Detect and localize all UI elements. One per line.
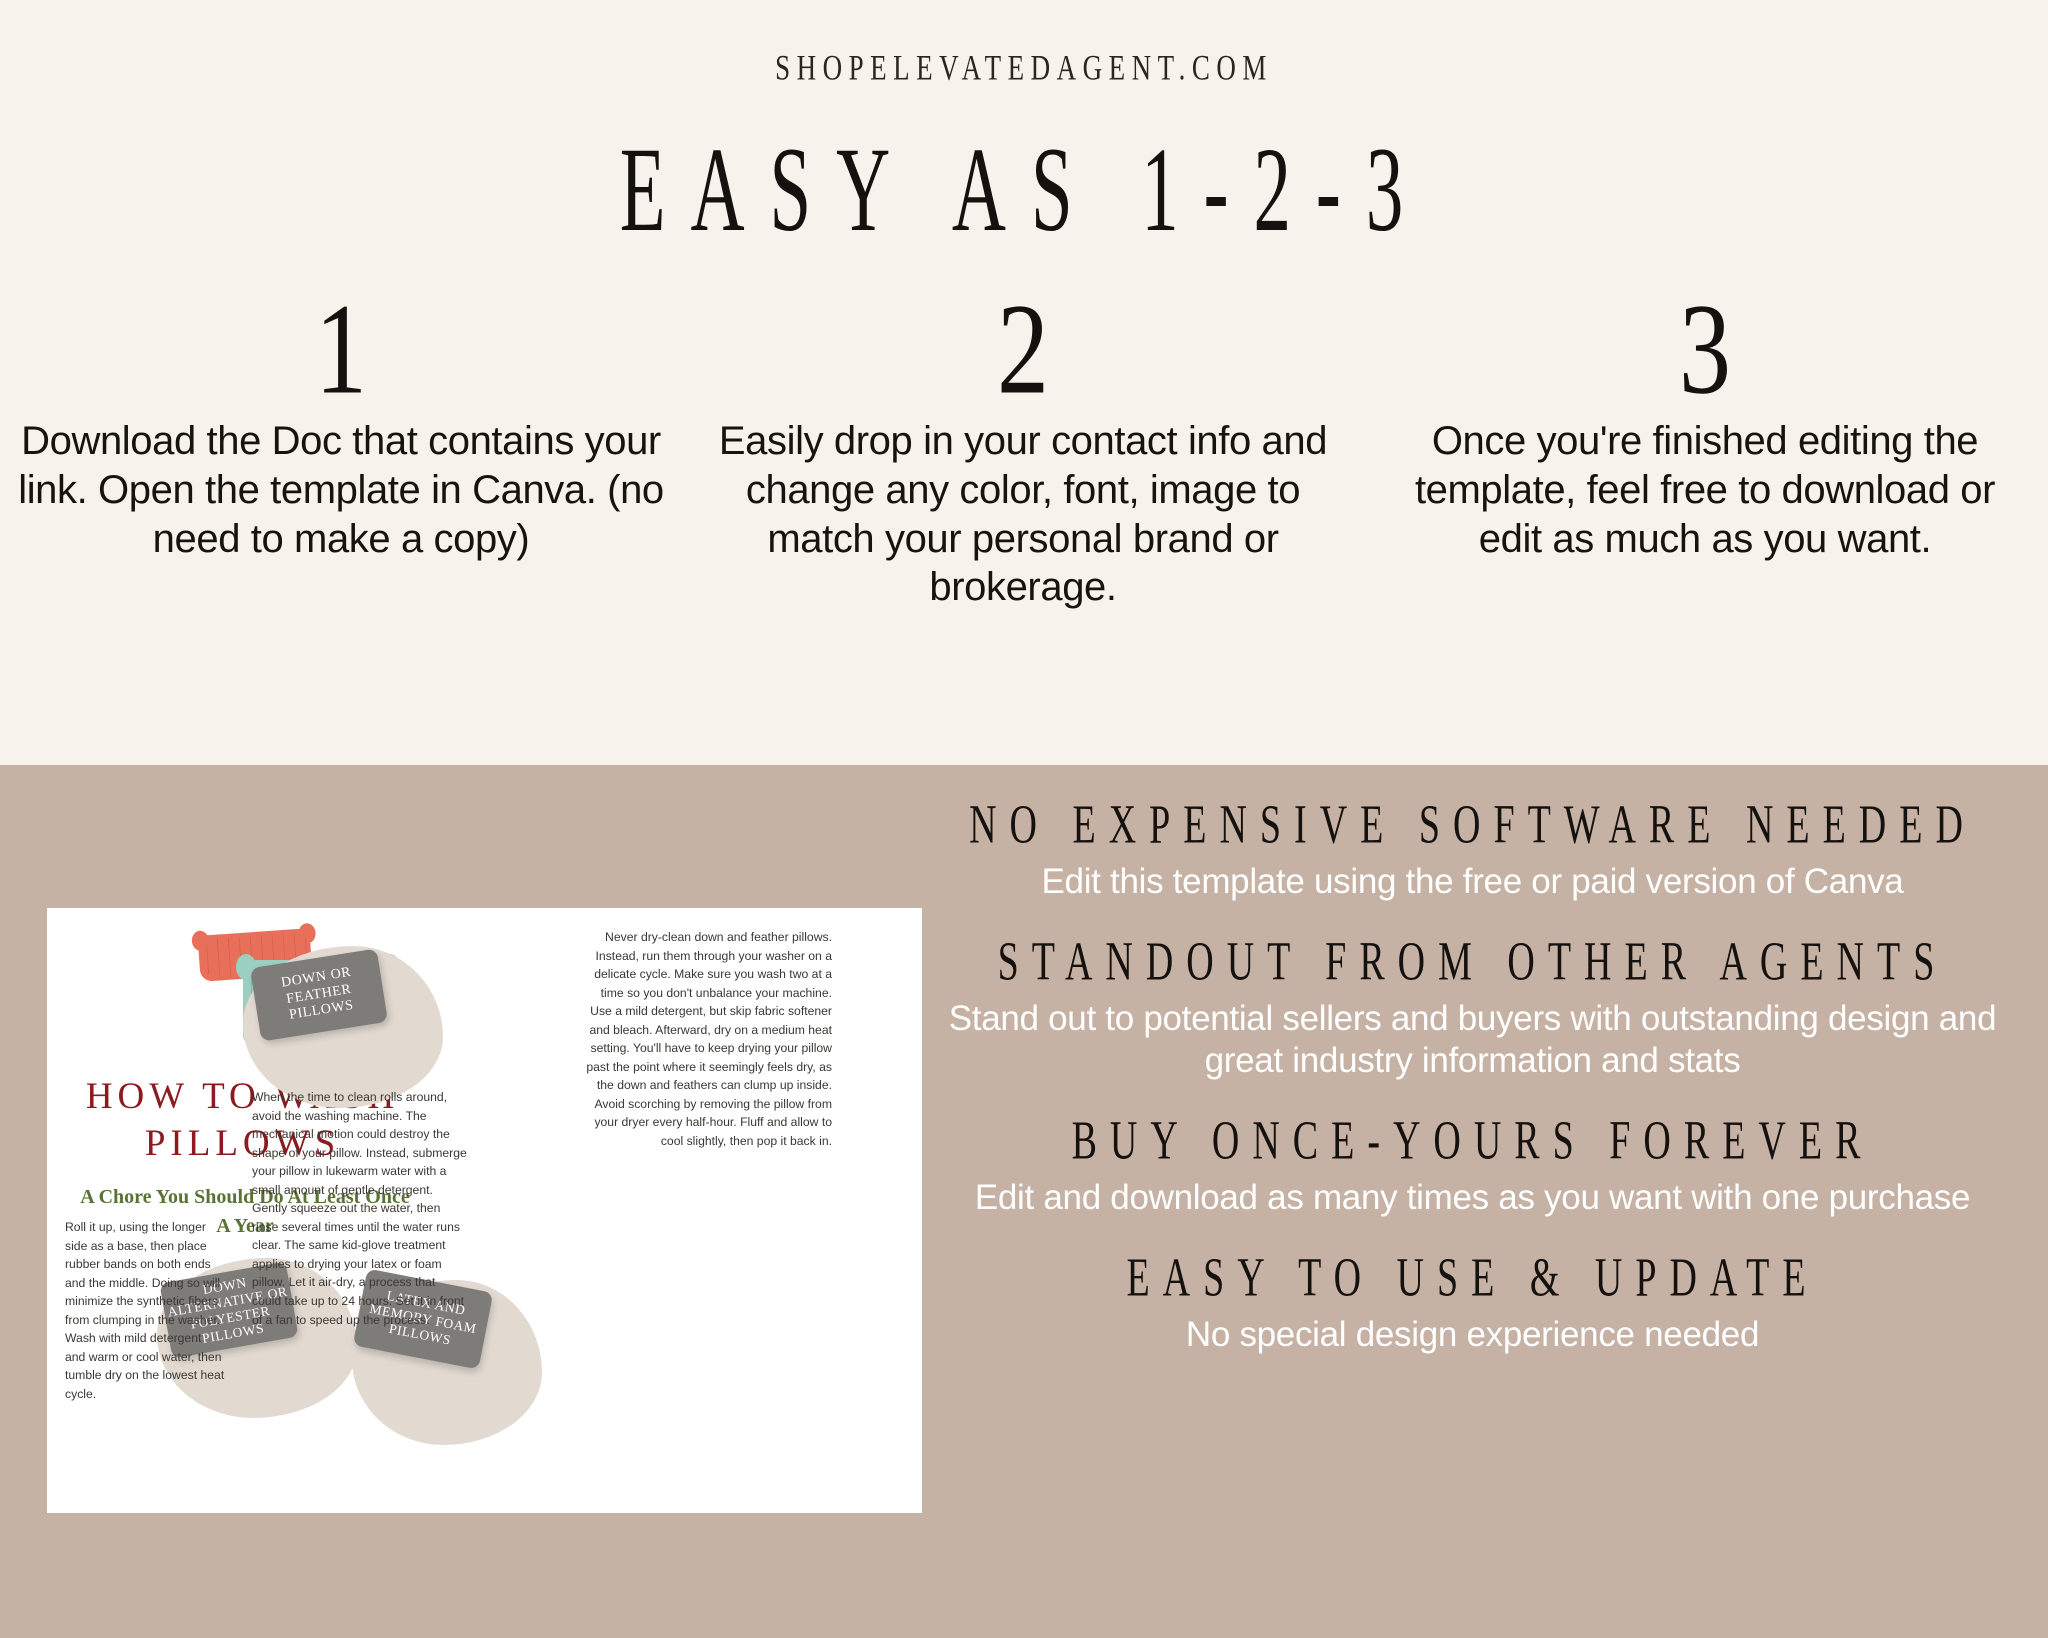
- steps-row: 1 Download the Doc that contains your li…: [0, 285, 2048, 612]
- flyer-body-middle: When the time to clean rolls around, avo…: [252, 1088, 467, 1329]
- step-item-2: 2 Easily drop in your contact info and c…: [682, 285, 1364, 612]
- step-description-2: Easily drop in your contact info and cha…: [700, 417, 1346, 612]
- feature-item-2: STANDOUT FROM OTHER AGENTS Stand out to …: [905, 930, 2040, 1083]
- feature-body-4: No special design experience needed: [905, 1314, 2040, 1357]
- feature-heading-1: NO EXPENSIVE SOFTWARE NEEDED: [905, 793, 2040, 857]
- feature-body-2: Stand out to potential sellers and buyer…: [905, 998, 2040, 1083]
- feature-heading-2: STANDOUT FROM OTHER AGENTS: [905, 930, 2040, 994]
- step-item-1: 1 Download the Doc that contains your li…: [0, 285, 682, 612]
- step-number-3: 3: [1382, 285, 2028, 415]
- site-url: SHOPELEVATEDAGENT.COM: [0, 47, 2048, 89]
- step-number-1: 1: [18, 285, 664, 415]
- step-number-2: 2: [700, 285, 1346, 415]
- how-it-works-section: SHOPELEVATEDAGENT.COM EASY AS 1-2-3 1 Do…: [0, 0, 2048, 765]
- page-title: EASY AS 1-2-3: [41, 120, 2007, 260]
- feature-item-1: NO EXPENSIVE SOFTWARE NEEDED Edit this t…: [905, 793, 2040, 904]
- feature-body-1: Edit this template using the free or pai…: [905, 861, 2040, 904]
- flyer-body-right: Never dry-clean down and feather pillows…: [577, 928, 832, 1151]
- feature-heading-4: EASY TO USE & UPDATE: [905, 1246, 2040, 1310]
- feature-list: NO EXPENSIVE SOFTWARE NEEDED Edit this t…: [905, 793, 2040, 1356]
- feature-item-3: BUY ONCE-YOURS FOREVER Edit and download…: [905, 1109, 2040, 1220]
- feature-item-4: EASY TO USE & UPDATE No special design e…: [905, 1246, 2040, 1357]
- feature-body-3: Edit and download as many times as you w…: [905, 1177, 2040, 1220]
- step-description-1: Download the Doc that contains your link…: [18, 417, 664, 563]
- template-preview-flyer: HOW TO WASH PILLOWS A Chore You Should D…: [47, 908, 922, 1513]
- product-listing-graphic: SHOPELEVATEDAGENT.COM EASY AS 1-2-3 1 Do…: [0, 0, 2048, 1638]
- feature-heading-3: BUY ONCE-YOURS FOREVER: [905, 1109, 2040, 1173]
- step-description-3: Once you're finished editing the templat…: [1382, 417, 2028, 563]
- step-item-3: 3 Once you're finished editing the templ…: [1364, 285, 2046, 612]
- features-section: HOW TO WASH PILLOWS A Chore You Should D…: [0, 765, 2048, 1638]
- flyer-body-left: Roll it up, using the longer side as a b…: [65, 1218, 225, 1403]
